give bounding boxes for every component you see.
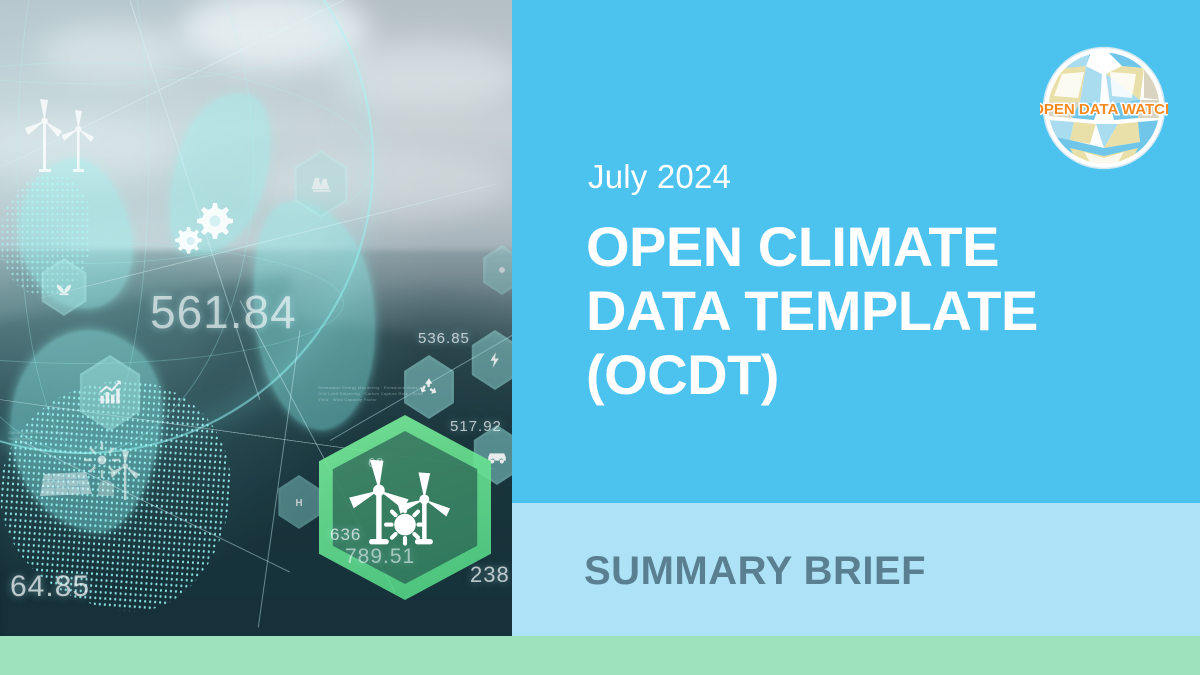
summary-brief-label: SUMMARY BRIEF (584, 549, 926, 594)
page-title-line-2: DATA TEMPLATE (586, 279, 1186, 343)
wind-and-sun-icon (342, 449, 468, 566)
title-panel: OPEN DATA WATCH July 2024 OPEN CLIMATE D… (512, 0, 1200, 503)
summary-brief-band: SUMMARY BRIEF (512, 503, 1200, 636)
bottom-accent-strip (0, 636, 1200, 675)
page-title: OPEN CLIMATE DATA TEMPLATE (OCDT) (586, 215, 1186, 406)
page-title-line-3: (OCDT) (586, 343, 1186, 407)
summary-brief-cover-slide: H (0, 0, 1200, 675)
page-title-line-1: OPEN CLIMATE (586, 215, 1186, 279)
open-data-watch-logo[interactable]: OPEN DATA WATCH (1040, 44, 1168, 172)
publication-date: July 2024 (588, 158, 731, 196)
logo-wordmark: OPEN DATA WATCH (1040, 101, 1168, 118)
hero-image: H (0, 0, 512, 636)
